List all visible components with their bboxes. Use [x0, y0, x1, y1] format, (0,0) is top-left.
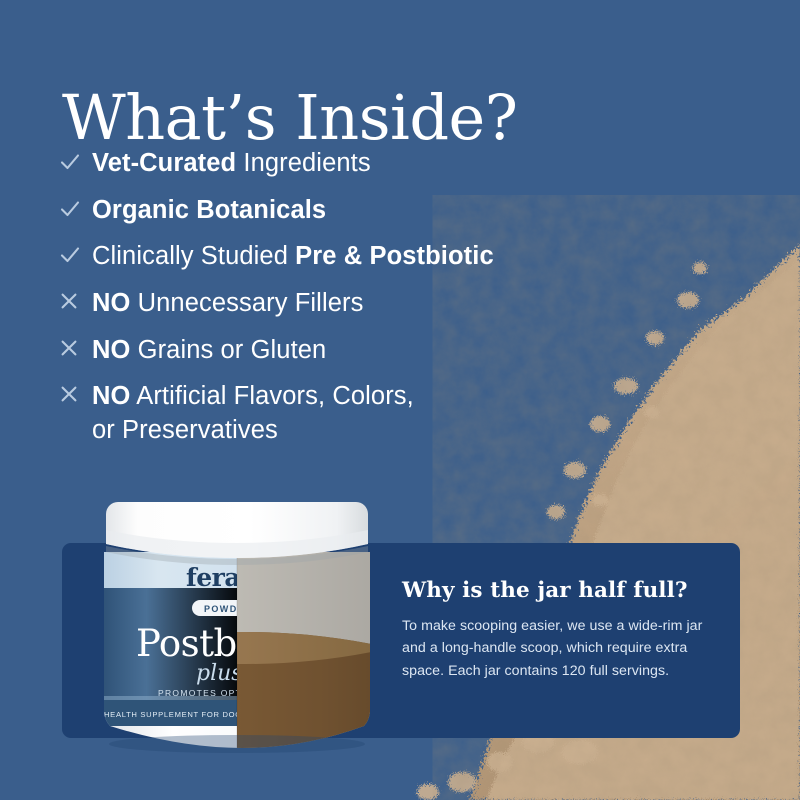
x-icon [58, 287, 92, 312]
product-benefits-panel: What’s Inside? Vet-Curated Ingredients O… [0, 0, 800, 800]
x-icon [58, 380, 92, 405]
check-icon [58, 147, 92, 174]
benefit-label: Clinically Studied Pre & Postbiotic [92, 240, 494, 274]
benefit-label: Vet-Curated Ingredients [92, 147, 371, 181]
x-icon [58, 334, 92, 359]
benefit-item: Vet-Curated Ingredients [58, 147, 698, 181]
benefit-item: NO Grains or Gluten [58, 334, 698, 368]
benefit-item: NO Unnecessary Fillers [58, 287, 698, 321]
benefit-label-rest: Grains or Gluten [130, 336, 326, 364]
check-icon [58, 194, 92, 221]
benefit-label: NO Artificial Flavors, Colors, or Preser… [92, 380, 414, 447]
benefit-label-rest: Ingredients [236, 149, 370, 177]
svg-text:plus: plus [196, 661, 243, 686]
benefit-label-strong: Pre & Postbiotic [295, 242, 494, 270]
info-card-title: Why is the jar half full? [402, 578, 712, 603]
benefit-label-rest: Artificial Flavors, Colors, or Preservat… [92, 382, 414, 444]
benefit-item: NO Artificial Flavors, Colors, or Preser… [58, 380, 698, 447]
benefit-label: NO Grains or Gluten [92, 334, 326, 368]
benefit-label-strong: NO [92, 382, 130, 410]
benefit-label-strong: NO [92, 289, 130, 317]
svg-text:fera: fera [186, 563, 240, 592]
product-jar: fera POWDER Postbiotic plus PROMOTES OPT… [100, 500, 390, 756]
benefits-list: Vet-Curated Ingredients Organic Botanica… [58, 147, 698, 461]
benefit-label-strong: NO [92, 336, 130, 364]
benefit-label-rest: Unnecessary Fillers [130, 289, 363, 317]
benefit-label-rest: Clinically Studied [92, 242, 295, 270]
benefit-item: Clinically Studied Pre & Postbiotic [58, 240, 698, 274]
page-title: What’s Inside? [62, 86, 517, 150]
benefit-item: Organic Botanicals [58, 194, 698, 228]
jar-lid [106, 502, 368, 565]
benefit-label: Organic Botanicals [92, 194, 326, 228]
benefit-label: NO Unnecessary Fillers [92, 287, 363, 321]
benefit-label-strong: Vet-Curated [92, 149, 236, 177]
info-card-body: Why is the jar half full? To make scoopi… [402, 578, 712, 682]
info-card-text: To make scooping easier, we use a wide-r… [402, 615, 712, 682]
check-icon [58, 240, 92, 267]
benefit-label-strong: Organic Botanicals [92, 196, 326, 224]
